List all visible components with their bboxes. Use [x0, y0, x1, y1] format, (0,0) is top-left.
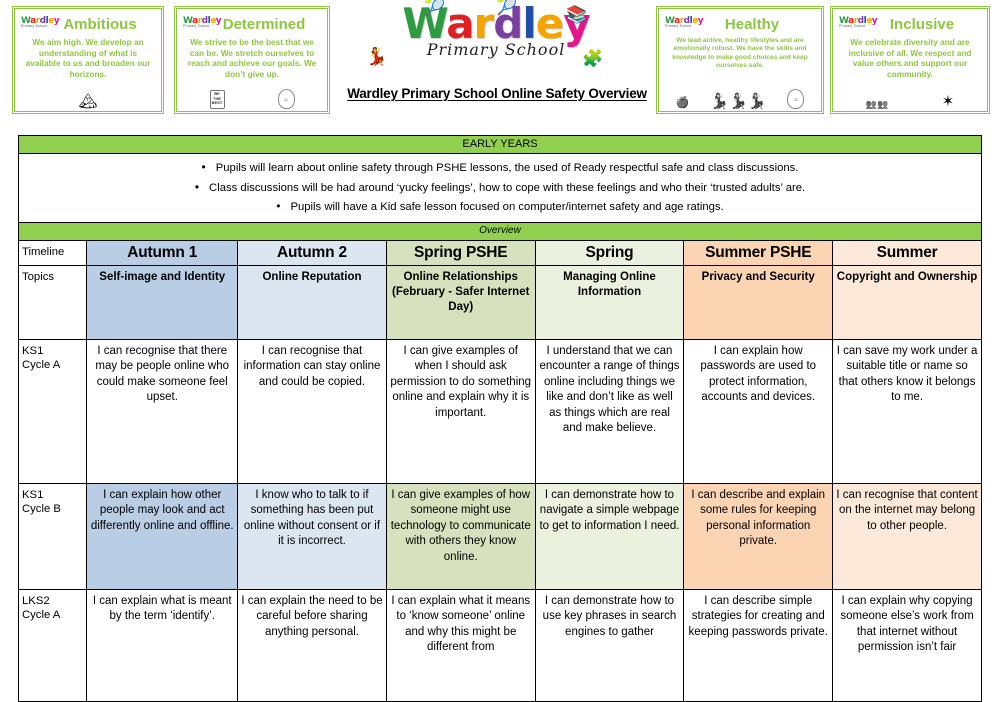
- topic-cell: Privacy and Security: [684, 265, 833, 339]
- page-title: Wardley Primary School Online Safety Ove…: [336, 86, 658, 101]
- statement-cell: I can explain how passwords are used to …: [684, 339, 833, 483]
- statement-cell: I can give examples of how someone might…: [386, 483, 535, 589]
- overview-banner: Overview: [19, 222, 982, 240]
- topics-row: Topics Self-image and Identity Online Re…: [19, 265, 982, 339]
- statement-cell: I can demonstrate how to navigate a simp…: [535, 483, 684, 589]
- statement-cell: I can explain what is meant by the term …: [87, 589, 238, 701]
- diversity-star-icon: ✶: [942, 94, 955, 109]
- topic-cell: Managing Online Information: [535, 265, 684, 339]
- bullet-item: Pupils will learn about online safety th…: [29, 158, 971, 178]
- value-card-determined: Wardley Primary School Determined We str…: [174, 6, 330, 114]
- community-group-icon: 👥👥: [866, 100, 888, 109]
- statement-cell: I can describe simple strategies for cre…: [684, 589, 833, 701]
- column-header-spring-pshe: Spring PSHE: [386, 240, 535, 265]
- wardley-mini-logo-icon: Wardley Primary School: [665, 17, 699, 31]
- topic-cell: Copyright and Ownership: [833, 265, 982, 339]
- column-header-autumn-2: Autumn 2: [238, 240, 387, 265]
- value-card-ambitious: Wardley Primary School Ambitious We aim …: [12, 6, 164, 114]
- column-header-autumn-1: Autumn 1: [87, 240, 238, 265]
- statement-cell: I can explain how other people may look …: [87, 483, 238, 589]
- school-crest-icon: ⚖: [787, 89, 804, 109]
- child-illustration-icon: 🎾: [496, 0, 517, 15]
- row-label-topics: Topics: [19, 265, 87, 339]
- header-band: Wardley Primary School Ambitious We aim …: [0, 0, 1000, 125]
- statement-cell: I can give examples of when I should ask…: [386, 339, 535, 483]
- healthy-eating-icon: 🍎: [676, 98, 690, 109]
- bullet-item: Class discussions will be had around ‘yu…: [29, 178, 971, 198]
- value-card-icons: 👥👥 ✶: [833, 83, 987, 109]
- early-years-banner-row: EARLY YEARS: [19, 136, 982, 154]
- early-years-banner: EARLY YEARS: [19, 136, 982, 154]
- climbing-figures-icon: 🏔: [78, 94, 97, 109]
- value-card-icons: 🏔: [15, 83, 161, 109]
- row-label-ks1-cycle-b: KS1 Cycle B: [19, 483, 87, 589]
- child-illustration-icon: 🎾: [424, 0, 445, 16]
- wardley-mini-logo-icon: Wardley Primary School: [839, 17, 873, 31]
- ks1-cycle-b-row: KS1 Cycle B I can explain how other peop…: [19, 483, 982, 589]
- wardley-logo: Wardley Primary School 💃 🎾 🎾 📚 🧩: [336, 2, 656, 59]
- column-header-summer: Summer: [833, 240, 982, 265]
- topic-cell: Online Relationships (February - Safer I…: [386, 265, 535, 339]
- school-crest-icon: ⚖: [278, 89, 295, 109]
- early-years-bullets-row: Pupils will learn about online safety th…: [19, 154, 982, 223]
- row-label-lks2-cycle-a: LKS2 Cycle A: [19, 589, 87, 701]
- value-card-header: Wardley Primary School Inclusive: [839, 13, 981, 35]
- child-illustration-icon: 💃: [366, 48, 387, 65]
- wardley-mini-logo-icon: Wardley Primary School: [183, 17, 217, 31]
- value-card-inclusive: Wardley Primary School Inclusive We cele…: [830, 6, 990, 114]
- overview-banner-row: Overview: [19, 222, 982, 240]
- value-card-icons: BE THE BEST ⚖: [177, 83, 327, 109]
- value-card-body: We lead active, healthy lifestyles and a…: [665, 35, 815, 71]
- child-illustration-icon: 📚: [566, 6, 587, 23]
- value-card-title: Inclusive: [877, 17, 981, 32]
- row-label-ks1-cycle-a: KS1 Cycle A: [19, 339, 87, 483]
- value-card-header: Wardley Primary School Determined: [183, 13, 321, 35]
- value-card-body: We celebrate diversity and are inclusive…: [839, 35, 981, 79]
- timeline-header-row: Timeline Autumn 1 Autumn 2 Spring PSHE S…: [19, 240, 982, 265]
- value-card-icons: 🍎 💃💃💃 ⚖: [659, 83, 821, 109]
- lks2-cycle-a-row: LKS2 Cycle A I can explain what is meant…: [19, 589, 982, 701]
- value-card-title: Ambitious: [59, 17, 155, 32]
- child-illustration-icon: 🧩: [582, 50, 603, 67]
- column-header-summer-pshe: Summer PSHE: [684, 240, 833, 265]
- value-card-title: Healthy: [703, 17, 815, 32]
- statement-cell: I can save my work under a suitable titl…: [833, 339, 982, 483]
- topic-cell: Self-image and Identity: [87, 265, 238, 339]
- online-safety-overview-table: EARLY YEARS Pupils will learn about onli…: [18, 135, 982, 702]
- ks1-cycle-a-row: KS1 Cycle A I can recognise that there m…: [19, 339, 982, 483]
- statement-cell: I can demonstrate how to use key phrases…: [535, 589, 684, 701]
- statement-cell: I can explain what it means to ‘know som…: [386, 589, 535, 701]
- column-header-spring: Spring: [535, 240, 684, 265]
- statement-cell: I can explain the need to be careful bef…: [238, 589, 387, 701]
- value-card-healthy: Wardley Primary School Healthy We lead a…: [656, 6, 824, 114]
- value-card-header: Wardley Primary School Ambitious: [21, 13, 155, 35]
- statement-cell: I understand that we can encounter a ran…: [535, 339, 684, 483]
- row-label-timeline: Timeline: [19, 240, 87, 265]
- statement-cell: I can recognise that content on the inte…: [833, 483, 982, 589]
- value-card-header: Wardley Primary School Healthy: [665, 13, 815, 35]
- early-years-bullets: Pupils will learn about online safety th…: [19, 154, 982, 223]
- statement-cell: I can describe and explain some rules fo…: [684, 483, 833, 589]
- topic-cell: Online Reputation: [238, 265, 387, 339]
- value-card-body: We aim high. We develop an understanding…: [21, 35, 155, 79]
- wardley-mini-logo-icon: Wardley Primary School: [21, 17, 55, 31]
- statement-cell: I can recognise that information can sta…: [238, 339, 387, 483]
- statement-cell: I can recognise that there may be people…: [87, 339, 238, 483]
- value-card-body: We strive to be the best that we can be.…: [183, 35, 321, 79]
- value-card-title: Determined: [221, 17, 321, 32]
- active-people-icon: 💃💃💃: [710, 94, 766, 109]
- bullet-item: Pupils will have a Kid safe lesson focus…: [29, 197, 971, 217]
- statement-cell: I can explain why copying someone else’s…: [833, 589, 982, 701]
- be-the-best-badge-icon: BE THE BEST: [210, 90, 225, 109]
- statement-cell: I know who to talk to if something has b…: [238, 483, 387, 589]
